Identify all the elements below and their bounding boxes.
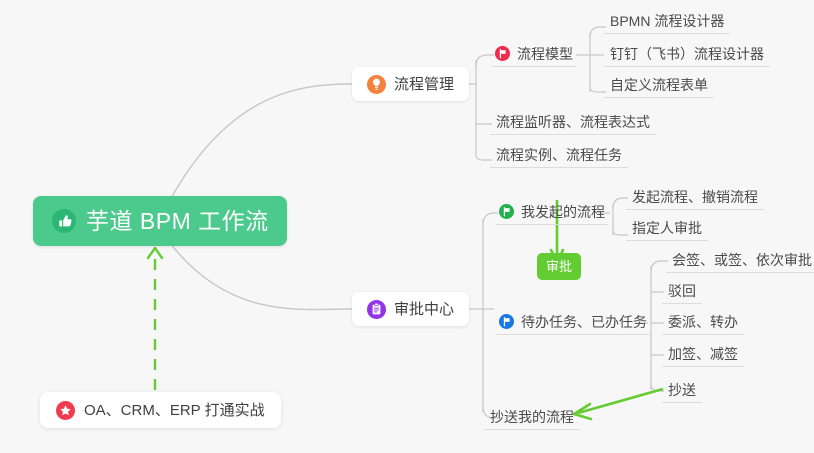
mindmap-canvas: 芋道 BPM 工作流 流程管理 流程模型 BPMN 流程设计器 钉钉（飞书）流程… <box>0 0 814 453</box>
sub-node-todo-done-tasks[interactable]: 待办任务、已办任务 <box>496 311 650 335</box>
sub-label-my-initiated-process: 我发起的流程 <box>521 205 605 219</box>
tag-label-approval: 审批 <box>546 260 572 273</box>
sub-node-process-model[interactable]: 流程模型 <box>492 43 576 67</box>
leaf-label-add-remove-sign: 加签、减签 <box>668 347 738 361</box>
tag-badge-approval[interactable]: 审批 <box>537 253 581 280</box>
branch-node-approval-center[interactable]: 审批中心 <box>352 292 469 326</box>
flag-circle-icon <box>499 204 514 219</box>
leaf-node-cc-to-me-process[interactable]: 抄送我的流程 <box>484 406 580 430</box>
leaf-node-counter-or-sequential-sign[interactable]: 会签、或签、依次审批 <box>666 249 814 273</box>
clipboard-circle-icon <box>367 300 386 319</box>
star-circle-icon <box>56 401 75 420</box>
leaf-node-assignee-approval[interactable]: 指定人审批 <box>626 217 708 241</box>
root-label: 芋道 BPM 工作流 <box>86 210 269 233</box>
callout-label-integration-practice: OA、CRM、ERP 打通实战 <box>84 403 265 418</box>
leaf-label-bpmn-designer: BPMN 流程设计器 <box>610 14 724 28</box>
leaf-label-process-instance-task: 流程实例、流程任务 <box>496 148 622 162</box>
leaf-label-delegate-transfer: 委派、转办 <box>668 315 738 329</box>
leaf-node-delegate-transfer[interactable]: 委派、转办 <box>662 311 744 335</box>
leaf-label-process-listener-expression: 流程监听器、流程表达式 <box>496 115 650 129</box>
leaf-node-process-listener-expression[interactable]: 流程监听器、流程表达式 <box>490 111 656 135</box>
leaf-label-counter-or-sequential-sign: 会签、或签、依次审批 <box>672 253 812 267</box>
leaf-node-bpmn-designer[interactable]: BPMN 流程设计器 <box>604 10 730 34</box>
sub-node-my-initiated-process[interactable]: 我发起的流程 <box>496 201 608 225</box>
branch-label-approval-center: 审批中心 <box>394 302 454 317</box>
leaf-node-dingtalk-feishu-designer[interactable]: 钉钉（飞书）流程设计器 <box>604 43 770 67</box>
flag-circle-icon <box>499 314 514 329</box>
arrow-cc-to-ccmine <box>578 389 663 413</box>
leaf-node-add-remove-sign[interactable]: 加签、减签 <box>662 343 744 367</box>
wire-root-to-process-management <box>170 84 352 200</box>
wire-root-to-approval-center <box>170 243 352 310</box>
branch-label-process-management: 流程管理 <box>394 77 454 92</box>
flag-circle-icon <box>495 46 510 61</box>
branch-node-process-management[interactable]: 流程管理 <box>352 67 469 101</box>
leaf-label-assignee-approval: 指定人审批 <box>632 221 702 235</box>
leaf-label-carbon-copy: 抄送 <box>668 383 696 397</box>
leaf-label-dingtalk-feishu-designer: 钉钉（飞书）流程设计器 <box>610 47 764 61</box>
leaf-label-reject: 驳回 <box>668 284 696 298</box>
root-node[interactable]: 芋道 BPM 工作流 <box>33 196 287 246</box>
thumbs-up-circle-icon <box>51 208 77 234</box>
leaf-label-cc-to-me-process: 抄送我的流程 <box>490 410 574 424</box>
callout-node-integration-practice[interactable]: OA、CRM、ERP 打通实战 <box>40 392 281 428</box>
leaf-label-custom-process-form: 自定义流程表单 <box>610 78 708 92</box>
leaf-label-start-cancel-process: 发起流程、撤销流程 <box>632 190 758 204</box>
arrow-integration-head <box>148 248 162 258</box>
leaf-node-start-cancel-process[interactable]: 发起流程、撤销流程 <box>626 186 764 210</box>
leaf-node-reject[interactable]: 驳回 <box>662 280 702 304</box>
leaf-node-process-instance-task[interactable]: 流程实例、流程任务 <box>490 144 628 168</box>
sub-label-todo-done-tasks: 待办任务、已办任务 <box>521 315 647 329</box>
leaf-node-carbon-copy[interactable]: 抄送 <box>662 379 702 403</box>
sub-label-process-model: 流程模型 <box>517 47 573 61</box>
lightbulb-circle-icon <box>367 75 386 94</box>
leaf-node-custom-process-form[interactable]: 自定义流程表单 <box>604 74 714 98</box>
